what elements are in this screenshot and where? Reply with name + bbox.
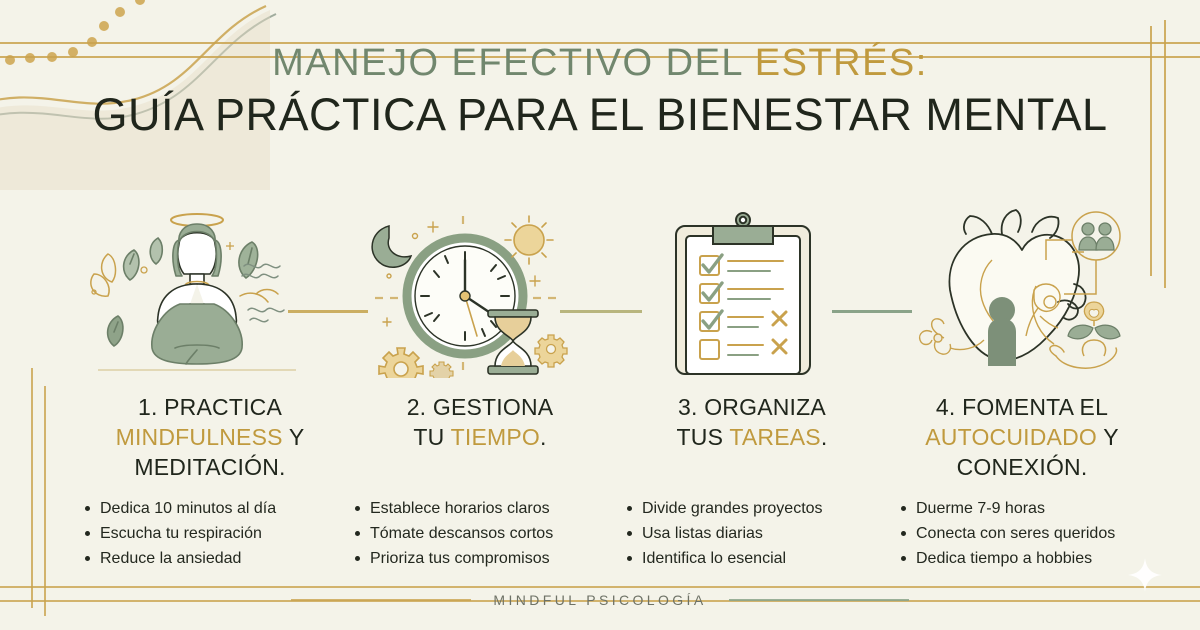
- list-item: Escucha tu respiración: [82, 521, 350, 546]
- list-item: Prioriza tus compromisos: [352, 546, 620, 571]
- step-1-heading-accent: MINDFULNESS: [116, 424, 283, 450]
- step-4-heading-line3: CONEXIÓN.: [957, 454, 1088, 480]
- list-item: Identifica lo esencial: [624, 546, 892, 571]
- icon-row: [0, 198, 1200, 378]
- step-1-heading-line3: MEDITACIÓN.: [134, 454, 285, 480]
- meditating-person-icon: [72, 198, 322, 378]
- step-3-bullet-list: Divide grandes proyectos Usa listas diar…: [624, 496, 892, 571]
- title-line-1-accent: ESTRÉS:: [755, 42, 928, 84]
- step-3-heading-pre: TUS: [677, 424, 730, 450]
- page-title: MANEJO EFECTIVO DEL ESTRÉS: GUÍA PRÁCTIC…: [0, 42, 1200, 141]
- step-2-bullet-list: Establece horarios claros Tómate descans…: [352, 496, 620, 571]
- heart-connection-icon: [888, 198, 1138, 378]
- step-4-heading-tail: Y: [1097, 424, 1119, 450]
- clipboard-checklist-icon: [618, 198, 868, 378]
- step-2-heading-pre: TU: [413, 424, 450, 450]
- step-1-heading: 1. PRACTICA MINDFULNESS Y MEDITACIÓN.: [70, 392, 350, 482]
- footer: MINDFUL PSICOLOGÍA: [0, 592, 1200, 608]
- footer-divider-right: [729, 599, 909, 601]
- list-item: Divide grandes proyectos: [624, 496, 892, 521]
- clock-hourglass-icon: [345, 198, 595, 378]
- step-4-bullet-list: Duerme 7-9 horas Conecta con seres queri…: [898, 496, 1162, 571]
- steps-row: 1. PRACTICA MINDFULNESS Y MEDITACIÓN. De…: [0, 392, 1200, 572]
- step-3-heading-accent: TAREAS: [729, 424, 821, 450]
- step-4-heading-accent: AUTOCUIDADO: [925, 424, 1097, 450]
- step-column-4: 4. FOMENTA EL AUTOCUIDADO Y CONEXIÓN. Du…: [882, 392, 1162, 571]
- step-2-heading: 2. GESTIONA TU TIEMPO.: [340, 392, 620, 452]
- step-column-3: 3. ORGANIZA TUS TAREAS. Divide grandes p…: [612, 392, 892, 571]
- footer-brand-text: MINDFUL PSICOLOGÍA: [493, 592, 706, 608]
- step-1-heading-line1: 1. PRACTICA: [138, 394, 282, 420]
- title-line-1: MANEJO EFECTIVO DEL ESTRÉS:: [0, 42, 1200, 85]
- list-item: Usa listas diarias: [624, 521, 892, 546]
- footer-divider-left: [291, 599, 471, 601]
- connector-line-1: [288, 310, 368, 313]
- step-2-heading-accent: TIEMPO: [451, 424, 540, 450]
- step-1-heading-tail: Y: [283, 424, 305, 450]
- step-4-heading-line1: 4. FOMENTA EL: [936, 394, 1108, 420]
- list-item: Reduce la ansiedad: [82, 546, 350, 571]
- connector-line-3: [832, 310, 912, 313]
- step-column-2: 2. GESTIONA TU TIEMPO. Establece horario…: [340, 392, 620, 571]
- list-item: Dedica tiempo a hobbies: [898, 546, 1162, 571]
- step-3-heading: 3. ORGANIZA TUS TAREAS.: [612, 392, 892, 452]
- list-item: Dedica 10 minutos al día: [82, 496, 350, 521]
- step-4-heading: 4. FOMENTA EL AUTOCUIDADO Y CONEXIÓN.: [882, 392, 1162, 482]
- connector-line-2: [560, 310, 642, 313]
- step-3-heading-line1: 3. ORGANIZA: [678, 394, 826, 420]
- list-item: Establece horarios claros: [352, 496, 620, 521]
- title-line-1-main: MANEJO EFECTIVO DEL: [272, 42, 743, 84]
- list-item: Duerme 7-9 horas: [898, 496, 1162, 521]
- list-item: Tómate descansos cortos: [352, 521, 620, 546]
- step-2-heading-line1: 2. GESTIONA: [407, 394, 554, 420]
- step-2-heading-tail: .: [540, 424, 547, 450]
- list-item: Conecta con seres queridos: [898, 521, 1162, 546]
- step-3-heading-tail: .: [821, 424, 828, 450]
- step-column-1: 1. PRACTICA MINDFULNESS Y MEDITACIÓN. De…: [70, 392, 350, 571]
- corner-bracket-bottom-left-line1: [0, 586, 1200, 588]
- step-1-bullet-list: Dedica 10 minutos al día Escucha tu resp…: [82, 496, 350, 571]
- title-line-2: GUÍA PRÁCTICA PARA EL BIENESTAR MENTAL: [0, 89, 1200, 141]
